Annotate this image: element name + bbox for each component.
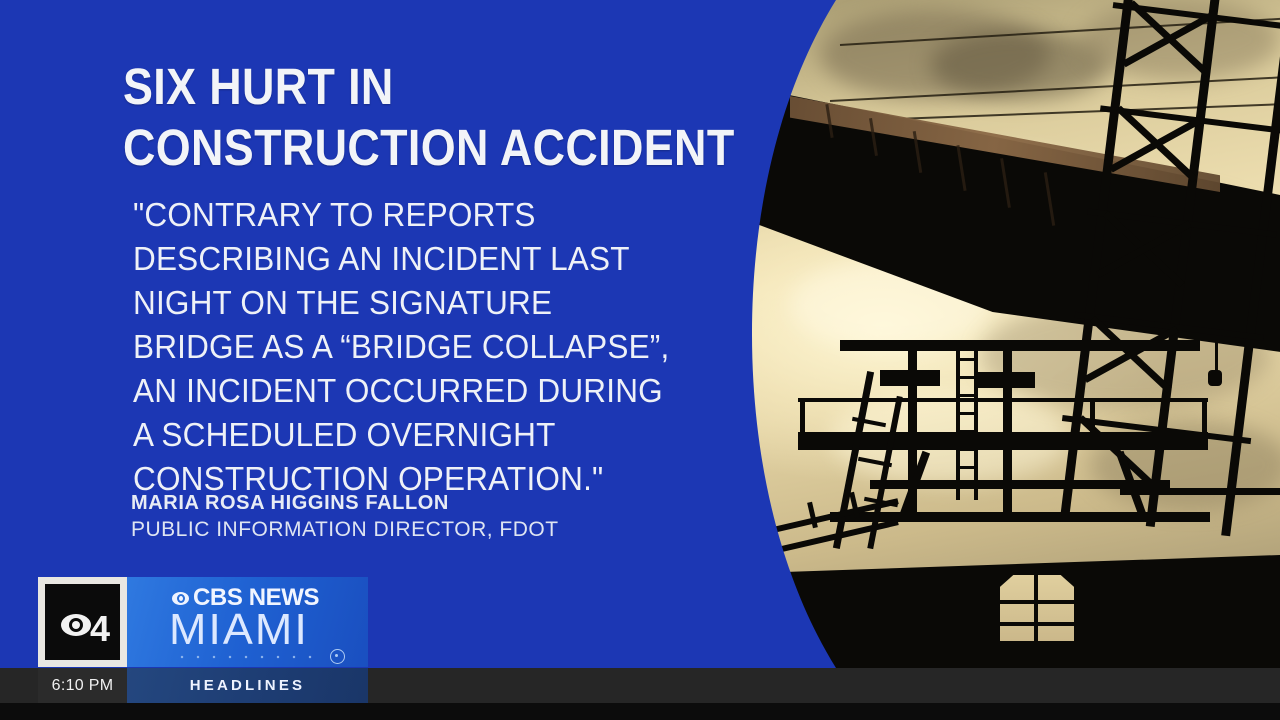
ladder-rung	[956, 394, 978, 397]
pier-bar	[1034, 575, 1038, 641]
quote-line-6: A SCHEDULED OVERNIGHT	[133, 413, 802, 457]
quote-line-1: "CONTRARY TO REPORTS	[133, 193, 802, 237]
station-logo-bug: 4 CBS NEWS MIAMI	[38, 577, 368, 667]
speaker-name: MARIA ROSA HIGGINS FALLON	[131, 490, 559, 516]
ladder-rung	[956, 376, 978, 379]
ground-silhouette	[760, 648, 1280, 668]
clock-time: 6:10 PM	[52, 677, 114, 695]
quote-line-3: NIGHT ON THE SIGNATURE	[133, 281, 802, 325]
channel-number: 4	[90, 608, 109, 650]
channel-logo-inner: 4	[45, 584, 120, 660]
network-brand-panel: CBS NEWS MIAMI	[127, 577, 368, 667]
top-beam	[840, 340, 1200, 351]
quote-line-4: BRIDGE AS A “BRIDGE COLLAPSE”,	[133, 325, 802, 369]
clock-display: 6:10 PM	[38, 668, 127, 703]
rail-post	[1202, 398, 1207, 434]
crane-hook	[1208, 370, 1222, 386]
lower-walkway	[1120, 488, 1280, 495]
ladder-rung	[956, 358, 978, 361]
quote-line-2: DESCRIBING AN INCIDENT LAST	[133, 237, 802, 281]
speaker-title: PUBLIC INFORMATION DIRECTOR, FDOT	[131, 516, 559, 543]
ladder-rung	[956, 412, 978, 415]
quote-text: "CONTRARY TO REPORTS DESCRIBING AN INCID…	[133, 193, 802, 501]
decorative-dotted-line	[174, 655, 324, 659]
news-lower-third-graphic: SIX HURT IN CONSTRUCTION ACCIDENT "CONTR…	[0, 0, 1280, 720]
ladder-rung	[956, 466, 978, 469]
cbs-eye-icon	[61, 614, 91, 636]
attribution: MARIA ROSA HIGGINS FALLON PUBLIC INFORMA…	[131, 490, 559, 543]
quote-line-5: AN INCIDENT OCCURRED DURING	[133, 369, 802, 413]
headline-line-1: SIX HURT IN	[123, 56, 704, 117]
page-title: SIX HURT IN CONSTRUCTION ACCIDENT	[123, 56, 704, 178]
segment-label: HEADLINES	[190, 677, 305, 694]
headline-line-2: CONSTRUCTION ACCIDENT	[123, 117, 704, 178]
segment-bar: HEADLINES	[127, 668, 368, 703]
channel-logo-box: 4	[38, 577, 127, 667]
platform-rail	[798, 398, 1208, 402]
ladder-rail	[956, 340, 960, 500]
market-label: MIAMI	[169, 607, 309, 653]
decorative-ring-icon	[330, 649, 345, 664]
letterbox-strip	[0, 703, 1280, 720]
cbs-eye-icon-small	[172, 592, 189, 605]
ladder-rail	[974, 340, 978, 500]
crane-hook-line	[1215, 340, 1218, 374]
rail-post	[1090, 398, 1095, 434]
